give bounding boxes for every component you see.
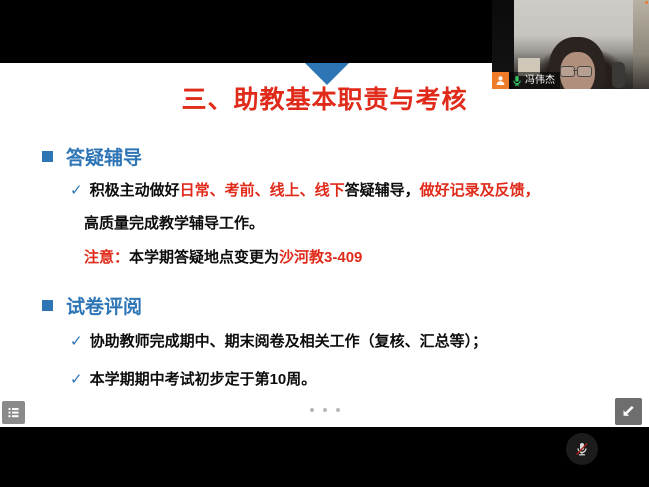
video-background-object bbox=[612, 62, 625, 88]
section-heading-answer-tutoring: 答疑辅导 bbox=[42, 143, 142, 170]
bullet-line: ✓ 本学期期中考试初步定于第10周。 bbox=[70, 369, 316, 390]
note-line: 注意：本学期答疑地点变更为沙河教3-409 bbox=[84, 247, 362, 268]
bullet-line-text: 本学期期中考试初步定于第10周。 bbox=[90, 369, 317, 390]
eyeglass-lens-right bbox=[577, 66, 592, 77]
text-run: 积极主动做好 bbox=[90, 182, 180, 199]
page-dot bbox=[336, 408, 340, 412]
note-label: 注意： bbox=[84, 249, 129, 266]
check-icon: ✓ bbox=[70, 180, 83, 201]
page-dot bbox=[323, 408, 327, 412]
bullet-line-text: 协助教师完成期中、期末阅卷及相关工作（复核、汇总等）； bbox=[90, 331, 488, 352]
eyeglass-lens-left bbox=[560, 66, 575, 77]
note-location: 沙河教3-409 bbox=[279, 249, 362, 266]
participant-name-label: 冯伟杰 bbox=[524, 72, 560, 89]
expand-button[interactable] bbox=[615, 398, 642, 425]
mute-toggle-button[interactable] bbox=[566, 433, 598, 465]
text-run-highlight: 日常、考前、线上、线下 bbox=[180, 182, 345, 199]
square-bullet-icon bbox=[42, 151, 53, 162]
participant-name-badge: 冯伟杰 bbox=[492, 72, 560, 89]
check-icon: ✓ bbox=[70, 331, 83, 352]
participant-video-tile[interactable]: 冯伟杰 bbox=[492, 0, 649, 89]
square-bullet-icon bbox=[42, 300, 53, 311]
meeting-stage: 三、助教基本职责与考核 答疑辅导 ✓ 积极主动做好日常、考前、线上、线下答疑辅导… bbox=[0, 0, 649, 487]
eyeglass-bridge bbox=[573, 70, 577, 71]
bullet-line-text: 积极主动做好日常、考前、线上、线下答疑辅导，做好记录及反馈， bbox=[90, 180, 540, 201]
page-indicator-dots bbox=[0, 408, 649, 412]
page-dot bbox=[310, 408, 314, 412]
bullet-line: ✓ 协助教师完成期中、期末阅卷及相关工作（复核、汇总等）； bbox=[70, 331, 487, 352]
section-heading-exam-grading: 试卷评阅 bbox=[42, 292, 142, 319]
text-run-highlight: 做好记录及反馈， bbox=[420, 182, 540, 199]
bullet-line: ✓ 积极主动做好日常、考前、线上、线下答疑辅导，做好记录及反馈， bbox=[70, 180, 540, 201]
text-run: 本学期答疑地点变更为 bbox=[129, 249, 279, 266]
shared-slide: 三、助教基本职责与考核 答疑辅导 ✓ 积极主动做好日常、考前、线上、线下答疑辅导… bbox=[0, 63, 649, 427]
check-icon: ✓ bbox=[70, 369, 83, 390]
microphone-muted-icon bbox=[573, 440, 591, 458]
expand-arrow-icon bbox=[620, 403, 637, 420]
recording-indicator-dot bbox=[645, 1, 648, 4]
section-heading-label: 答疑辅导 bbox=[66, 143, 142, 170]
text-run: 答疑辅导， bbox=[345, 182, 420, 199]
list-view-button[interactable] bbox=[2, 401, 25, 424]
host-person-icon bbox=[492, 72, 509, 89]
section-heading-label: 试卷评阅 bbox=[66, 292, 142, 319]
list-view-icon bbox=[7, 406, 20, 419]
video-frame-edge-right bbox=[633, 0, 649, 89]
bullet-line-continuation: 高质量完成教学辅导工作。 bbox=[84, 213, 264, 234]
microphone-active-icon bbox=[509, 72, 524, 89]
